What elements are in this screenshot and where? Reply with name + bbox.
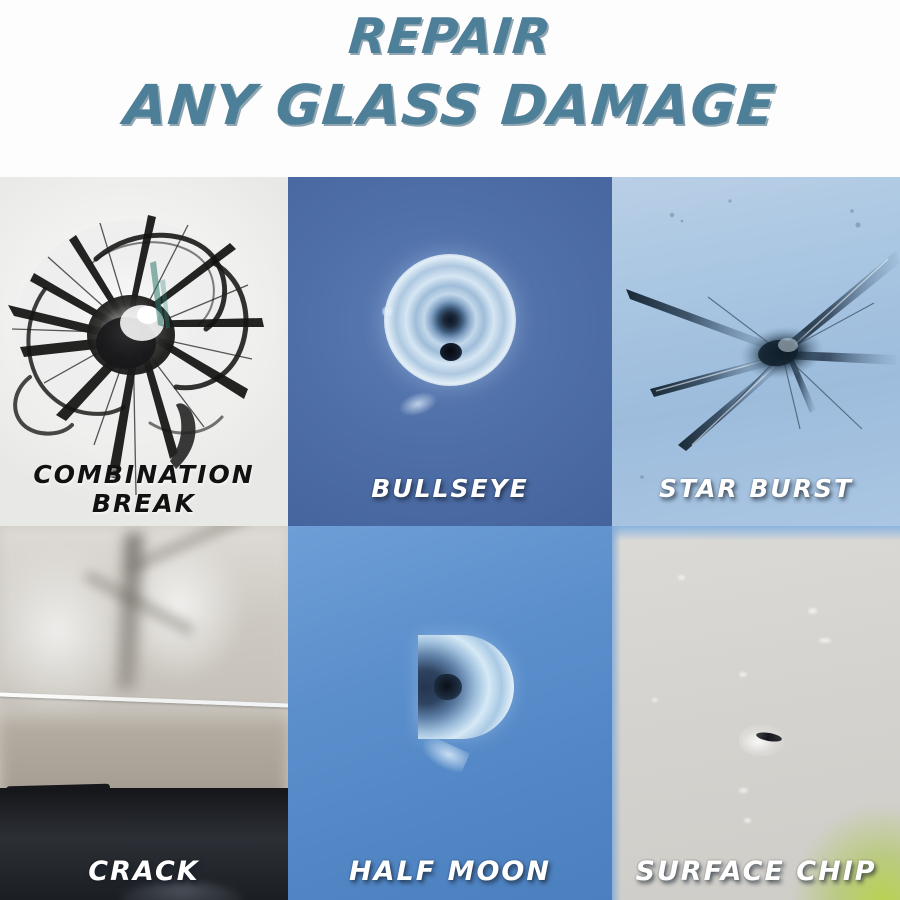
headline-line-1: REPAIR (0, 11, 900, 63)
grid-cell-surface-chip[interactable]: SURFACE CHIP (612, 526, 900, 900)
grid-cell-combination-break[interactable]: COMBINATION BREAK (0, 177, 288, 526)
half-moon-flake (418, 735, 470, 776)
star-burst-artwork (612, 177, 900, 526)
grid-cell-crack[interactable]: CRACK (0, 526, 288, 900)
glass-speck-1 (678, 575, 685, 580)
glass-speck-6 (739, 788, 748, 793)
crack-artwork (0, 526, 288, 900)
grid-cell-star-burst[interactable]: STAR BURST (612, 177, 900, 526)
grass-tint-corner (796, 810, 900, 900)
glass-speck-2 (808, 608, 817, 614)
surface-chip-artwork (612, 526, 900, 900)
surface-chip-pit (739, 724, 785, 756)
headline-line-2: ANY GLASS DAMAGE (0, 76, 900, 134)
glass-speck-5 (652, 698, 658, 702)
bullseye-chip-rings (384, 254, 516, 386)
sky-tint-top (612, 526, 900, 541)
dashboard (0, 788, 288, 900)
bullseye-flake (396, 388, 441, 421)
half-moon-chip-arc (418, 635, 514, 739)
bullseye-speck (382, 306, 393, 317)
combination-break-artwork (0, 177, 288, 526)
half-moon-impact-point (434, 674, 462, 700)
header-band: REPAIR ANY GLASS DAMAGE (0, 0, 900, 177)
glass-speck-4 (739, 672, 747, 677)
glass-speck-7 (744, 818, 751, 823)
half-moon-artwork (288, 526, 612, 900)
grid-cell-half-moon[interactable]: HALF MOON (288, 526, 612, 900)
glass-speck-3 (819, 638, 831, 643)
poster-root: REPAIR ANY GLASS DAMAGE (0, 0, 900, 900)
sky-tint-left (612, 526, 621, 900)
bullseye-impact-point (440, 343, 462, 361)
dashboard-hump (121, 882, 242, 900)
grid-cell-bullseye[interactable]: BULLSEYE (288, 177, 612, 526)
damage-type-grid: COMBINATION BREAK BULLSEYE (0, 177, 900, 900)
bullseye-artwork (288, 177, 612, 526)
